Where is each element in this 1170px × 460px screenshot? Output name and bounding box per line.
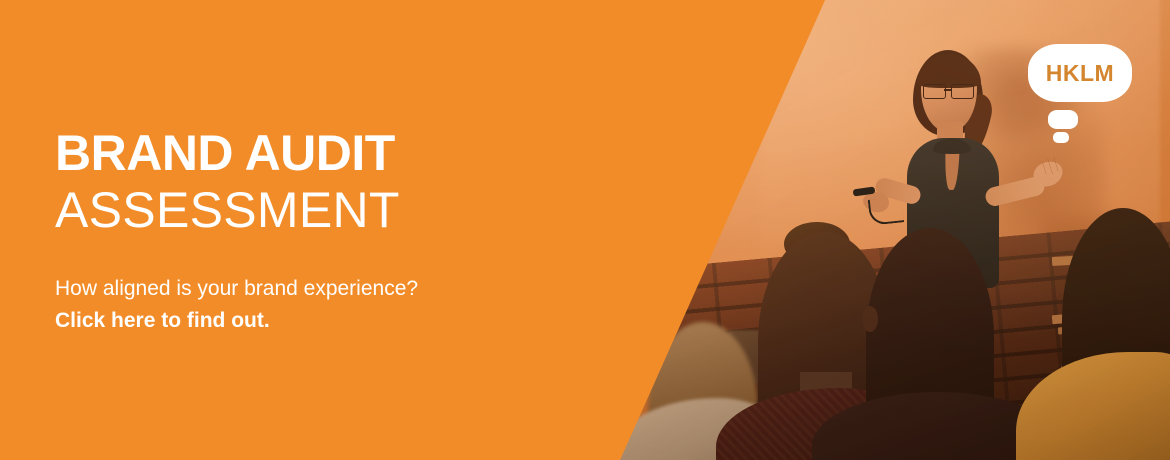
sub-headline: How aligned is your brand experience? — [55, 275, 575, 303]
logo-wordmark: HKLM — [1046, 62, 1114, 85]
logo-bubble-shape: HKLM — [1028, 44, 1132, 102]
cta-link[interactable]: Click here to find out. — [55, 307, 270, 335]
headline-secondary: ASSESSMENT — [55, 184, 575, 237]
logo-bubble-tail-small — [1053, 132, 1069, 143]
banner-copy: BRAND AUDIT ASSESSMENT How aligned is yo… — [55, 128, 575, 334]
hklm-logo[interactable]: HKLM — [1028, 44, 1132, 144]
logo-bubble-tail-large — [1048, 110, 1078, 129]
brand-audit-banner: BRAND AUDIT ASSESSMENT How aligned is yo… — [0, 0, 1170, 460]
headline-primary: BRAND AUDIT — [55, 128, 575, 178]
